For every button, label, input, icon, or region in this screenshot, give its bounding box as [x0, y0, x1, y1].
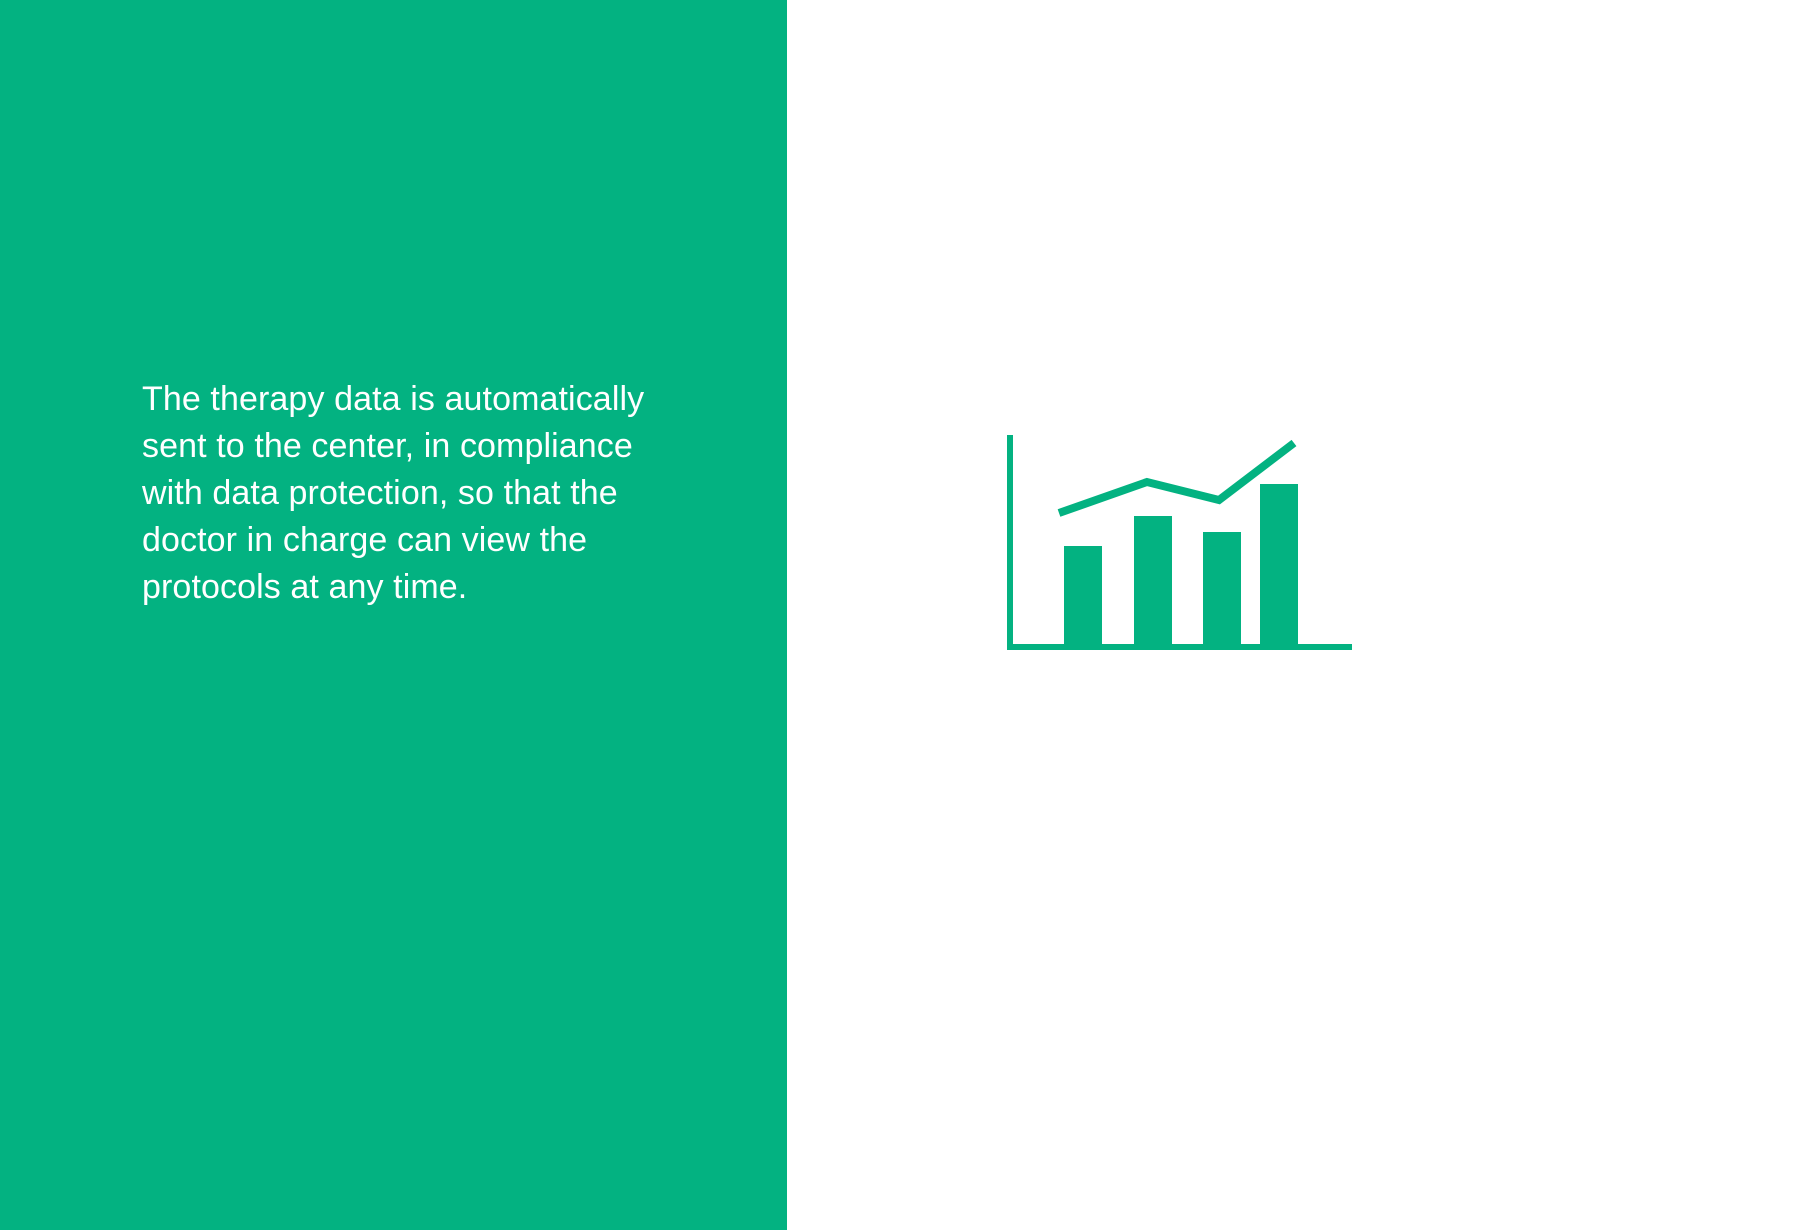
y-axis-line	[1007, 435, 1013, 650]
chart-bar-2	[1134, 516, 1172, 644]
caption-line-2: sent to the center, in compliance	[142, 423, 672, 470]
slide-root: The therapy data is automatically sent t…	[0, 0, 1809, 1230]
caption-line-4: doctor in charge can view the	[142, 517, 672, 564]
chart-trend-line	[1059, 443, 1294, 513]
bar-line-chart-icon-svg	[992, 425, 1352, 660]
chart-bar-3	[1203, 532, 1241, 644]
x-axis-line	[1007, 644, 1352, 650]
trend-polyline	[1059, 443, 1294, 513]
bar-line-chart-icon	[992, 425, 1352, 660]
chart-bar-1	[1064, 546, 1102, 644]
caption-text-block: The therapy data is automatically sent t…	[142, 376, 672, 611]
chart-axes	[1007, 435, 1352, 650]
chart-bar-4	[1260, 484, 1298, 644]
caption-line-5: protocols at any time.	[142, 564, 672, 611]
chart-bars	[1064, 484, 1298, 644]
green-caption-panel: The therapy data is automatically sent t…	[0, 0, 787, 1230]
caption-line-1: The therapy data is automatically	[142, 376, 672, 423]
caption-line-3: with data protection, so that the	[142, 470, 672, 517]
illustration-panel	[787, 0, 1809, 1230]
